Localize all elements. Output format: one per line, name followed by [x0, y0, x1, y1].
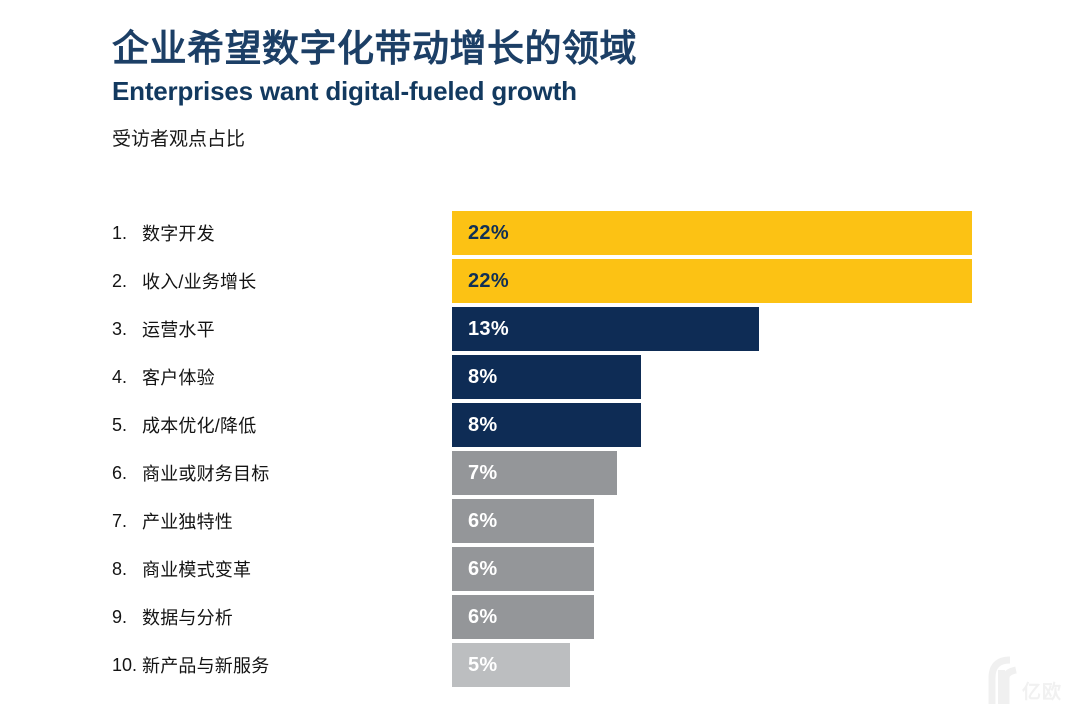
category-name: 商业或财务目标: [142, 460, 269, 486]
chart-row: 5.成本优化/降低8%: [0, 401, 1080, 449]
bar-value-label: 8%: [468, 366, 498, 389]
category-name: 收入/业务增长: [142, 268, 256, 294]
category-label: 10.新产品与新服务: [112, 641, 269, 689]
bar-value-label: 6%: [468, 510, 498, 533]
category-name: 客户体验: [142, 364, 215, 390]
category-rank: 9.: [112, 607, 142, 628]
category-name: 成本优化/降低: [142, 412, 256, 438]
category-name: 数字开发: [142, 220, 215, 246]
chart-page: 企业希望数字化带动增长的领域 Enterprises want digital-…: [0, 0, 1080, 718]
bar: 7%: [452, 451, 617, 495]
category-label: 1.数字开发: [112, 209, 215, 257]
bar-value-label: 13%: [468, 318, 509, 341]
category-rank: 4.: [112, 367, 142, 388]
category-label: 4.客户体验: [112, 353, 215, 401]
bar: 22%: [452, 211, 972, 255]
chart-row: 6.商业或财务目标7%: [0, 449, 1080, 497]
bar-value-label: 7%: [468, 462, 498, 485]
category-rank: 1.: [112, 223, 142, 244]
category-label: 9.数据与分析: [112, 593, 233, 641]
category-label: 2.收入/业务增长: [112, 257, 256, 305]
category-name: 运营水平: [142, 316, 215, 342]
bar-value-label: 22%: [468, 270, 509, 293]
category-label: 6.商业或财务目标: [112, 449, 269, 497]
bar-value-label: 6%: [468, 558, 498, 581]
category-name: 产业独特性: [142, 508, 233, 534]
bar: 5%: [452, 643, 570, 687]
bar: 6%: [452, 547, 594, 591]
chart-row: 9.数据与分析6%: [0, 593, 1080, 641]
bar: 6%: [452, 499, 594, 543]
category-name: 新产品与新服务: [142, 652, 269, 678]
category-rank: 6.: [112, 463, 142, 484]
bar: 8%: [452, 355, 641, 399]
category-label: 5.成本优化/降低: [112, 401, 256, 449]
category-label: 7.产业独特性: [112, 497, 233, 545]
category-rank: 2.: [112, 271, 142, 292]
category-label: 8.商业模式变革: [112, 545, 251, 593]
bar-value-label: 8%: [468, 414, 498, 437]
bar: 22%: [452, 259, 972, 303]
chart-row: 7.产业独特性6%: [0, 497, 1080, 545]
category-label: 3.运营水平: [112, 305, 215, 353]
chart-row: 3.运营水平13%: [0, 305, 1080, 353]
bar-value-label: 6%: [468, 606, 498, 629]
category-rank: 8.: [112, 559, 142, 580]
chart-row: 4.客户体验8%: [0, 353, 1080, 401]
category-rank: 5.: [112, 415, 142, 436]
bar-value-label: 22%: [468, 222, 509, 245]
category-rank: 10.: [112, 655, 142, 676]
category-rank: 3.: [112, 319, 142, 340]
chart-row: 2.收入/业务增长22%: [0, 257, 1080, 305]
bar-value-label: 5%: [468, 654, 498, 677]
bar-chart: 1.数字开发22%2.收入/业务增长22%3.运营水平13%4.客户体验8%5.…: [0, 0, 1080, 718]
category-name: 商业模式变革: [142, 556, 251, 582]
category-name: 数据与分析: [142, 604, 233, 630]
chart-row: 8.商业模式变革6%: [0, 545, 1080, 593]
chart-row: 10.新产品与新服务5%: [0, 641, 1080, 689]
bar: 8%: [452, 403, 641, 447]
chart-row: 1.数字开发22%: [0, 209, 1080, 257]
bar: 13%: [452, 307, 759, 351]
category-rank: 7.: [112, 511, 142, 532]
bar: 6%: [452, 595, 594, 639]
